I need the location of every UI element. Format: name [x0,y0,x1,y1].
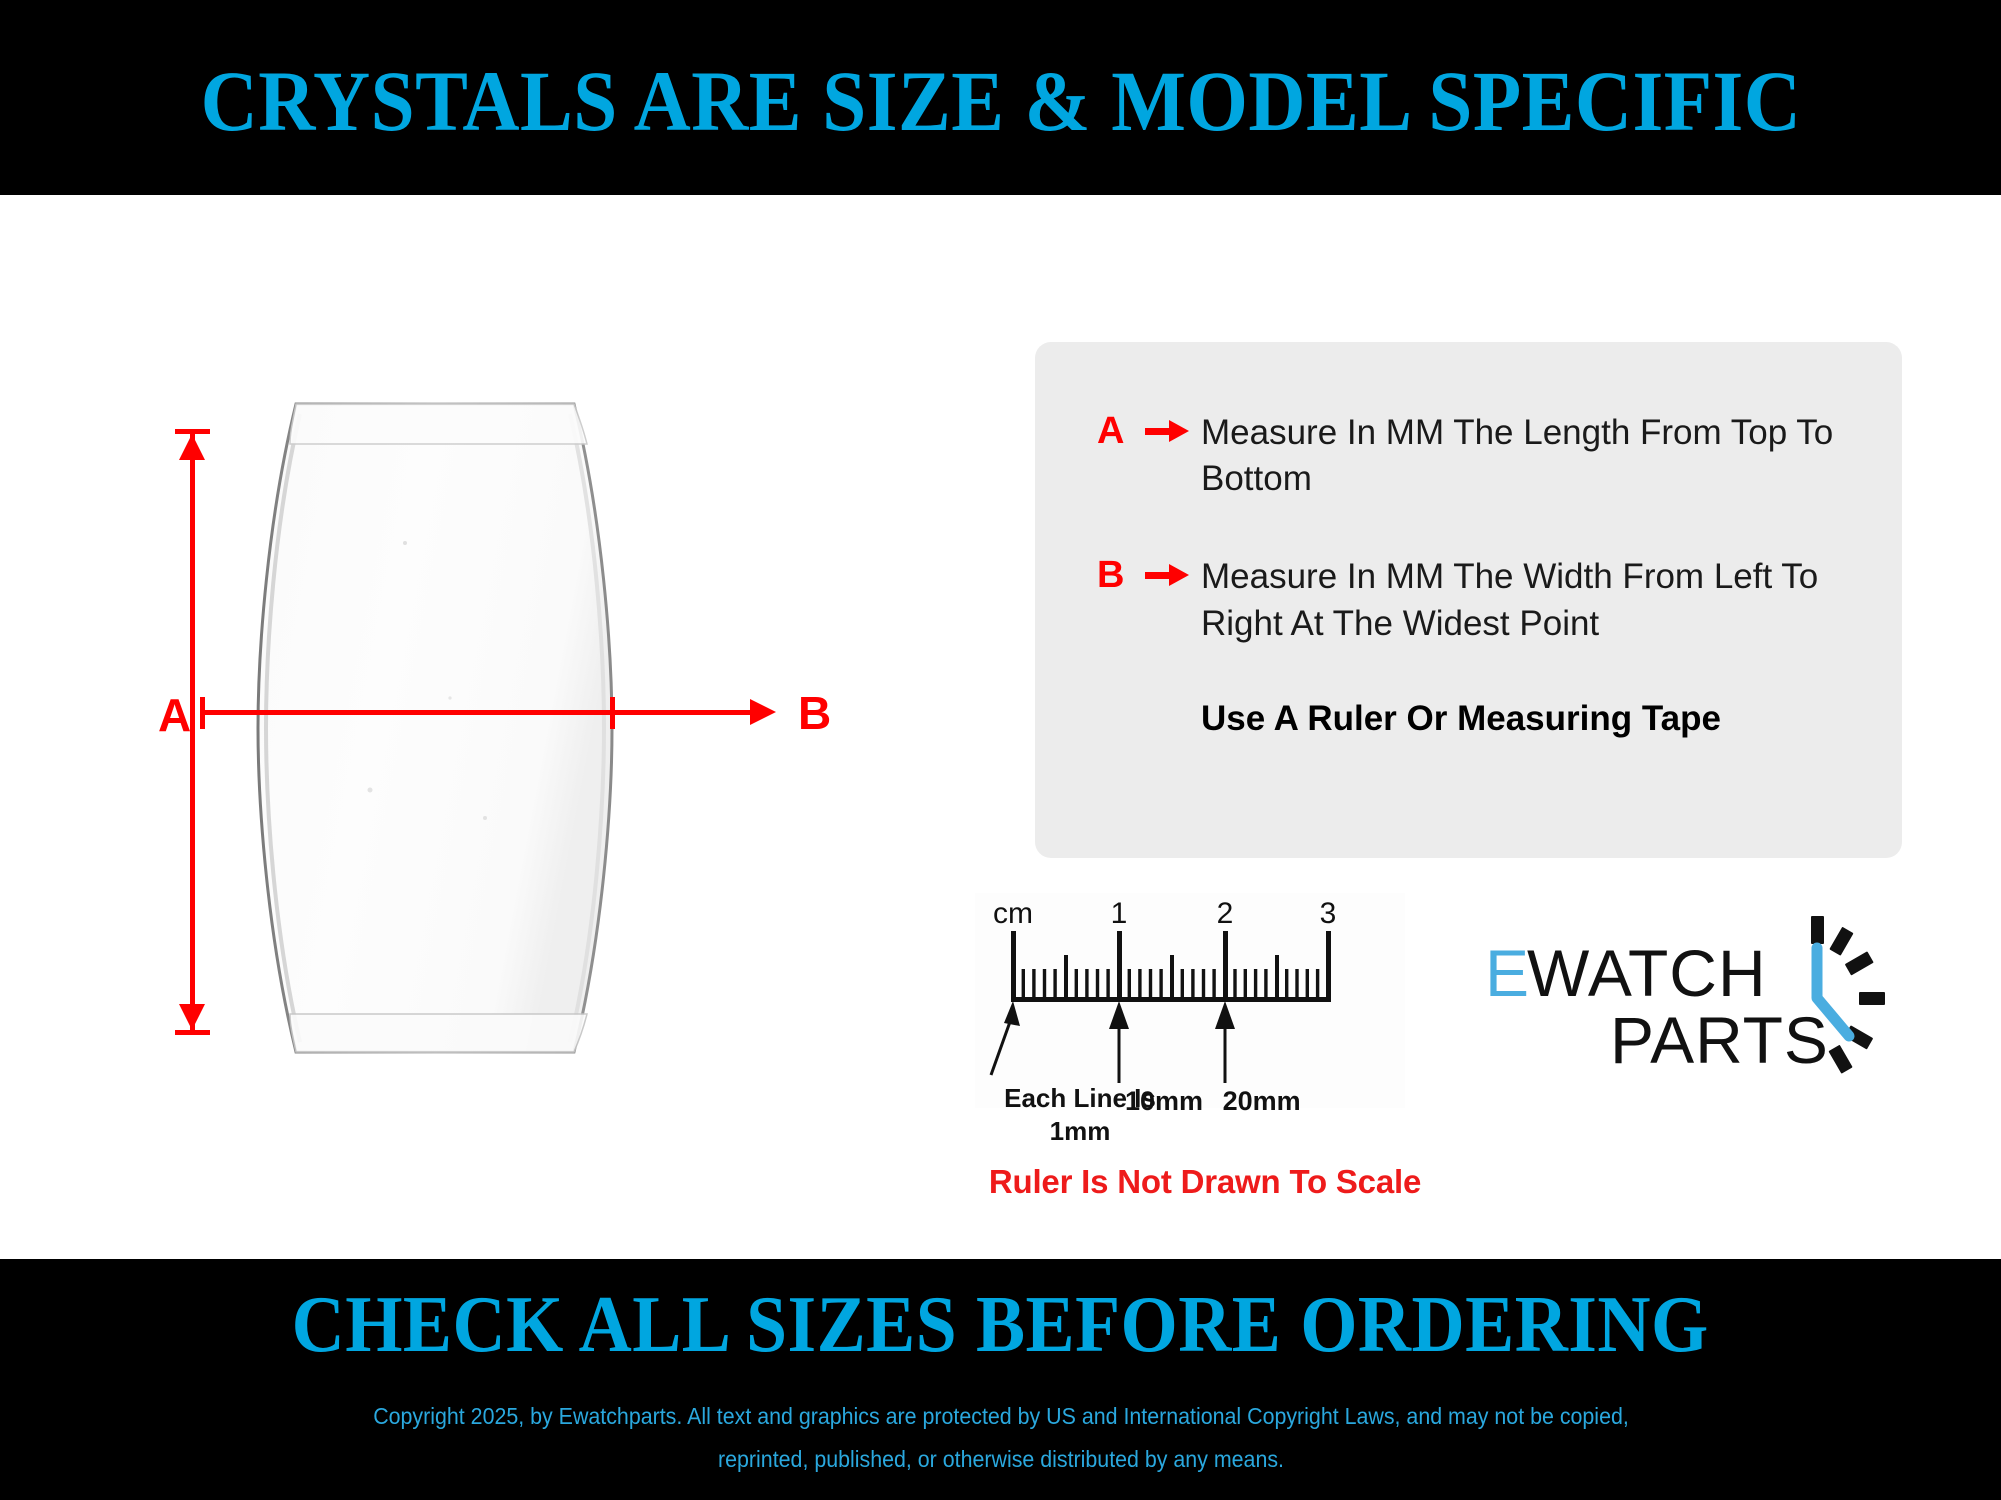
instruction-key-b: B [1097,554,1131,597]
header-title: CRYSTALS ARE SIZE & MODEL SPECIFIC [200,58,1801,144]
instruction-text-a: Measure In MM The Length From Top To Bot… [1201,410,1862,502]
ruler-tick-label-1: 1 [1111,897,1128,930]
ruler-tick-label-3: 3 [1320,897,1337,930]
arrow-right-icon [1131,410,1201,454]
clock-hands-icon [1817,948,1849,1036]
dimension-b-label: B [798,690,831,736]
dimension-a-bottom-cap [175,1030,210,1035]
logo-letter-e: E [1485,940,1530,1006]
ruler-tick-label-2: 2 [1217,897,1234,930]
watch-crystal-illustration [250,398,620,1058]
ruler-scale-warning: Ruler Is Not Drawn To Scale [975,1163,1435,1201]
arrow-up-icon [1109,1001,1129,1029]
dimension-a-label: A [158,692,191,738]
ruler-unit-label: cm [993,897,1033,930]
infographic-page: CRYSTALS ARE SIZE & MODEL SPECIFIC [0,0,2001,1500]
instructions-panel: A Measure In MM The Length From Top To B… [1035,342,1902,858]
instruction-item-a: A Measure In MM The Length From Top To B… [1097,410,1862,502]
ruler-mm-labels: 10mm 20mm [1125,1086,1313,1117]
ruler-mm-label-20: 20mm [1223,1086,1301,1116]
ewatchparts-logo: E WATCH PARTS [1485,912,1885,1092]
ruler-illustration: cm 1 2 3 [975,893,1405,1108]
instruction-note: Use A Ruler Or Measuring Tape [1201,699,1862,739]
ruler-svg: cm 1 2 3 [975,893,1405,1108]
dimension-b-line [200,710,753,715]
arrow-down-icon [179,1004,205,1030]
logo-word-watch: WATCH [1527,940,1767,1006]
clock-icon [1773,912,1888,1088]
footer-title: CHECK ALL SIZES BEFORE ORDERING [292,1285,1709,1365]
instruction-text-b: Measure In MM The Width From Left To Rig… [1201,554,1862,646]
instruction-key-a: A [1097,410,1131,453]
copyright-text: Copyright 2025, by Ewatchparts. All text… [350,1395,1652,1480]
top-banner: CRYSTALS ARE SIZE & MODEL SPECIFIC [0,0,2001,195]
bottom-banner: CHECK ALL SIZES BEFORE ORDERING Copyrigh… [0,1259,2001,1500]
arrow-up-icon [1215,1001,1235,1029]
arrow-right-icon [1131,554,1201,598]
arrow-up-icon [179,434,205,460]
instruction-item-b: B Measure In MM The Width From Left To R… [1097,554,1862,646]
arrow-up-icon [1004,1001,1020,1026]
dimension-b-right-tick [610,697,615,729]
arrow-right-icon [750,699,776,725]
ruler-mm-label-10: 10mm [1125,1086,1203,1116]
dimension-b-left-tick [200,697,205,729]
crystal-diagram: A B [150,370,950,1100]
ruler-callout-line-1mm [991,1019,1011,1075]
